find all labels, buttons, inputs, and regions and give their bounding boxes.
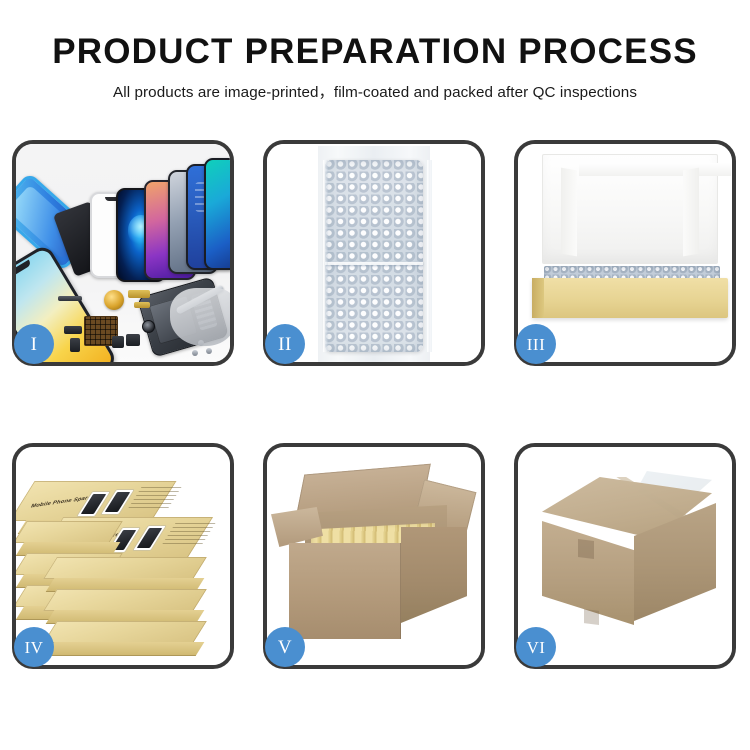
header: PRODUCT PREPARATION PROCESS All products… [0,0,750,102]
retail-box-fifth [50,621,200,643]
lid-flap-left [561,168,577,257]
small-component-icon [70,338,80,352]
hand-icon [170,288,230,346]
step-badge-5: V [265,627,305,667]
inner-box-lid-icon [542,154,718,264]
ic-chip-icon [112,336,124,348]
bubble-wrap-pouch-icon [325,160,423,352]
bar-part-icon [58,296,82,301]
lid-lip [579,163,731,176]
step-panel-5: V [263,443,485,669]
carton-side-right [401,527,467,623]
retail-box-left-a [20,521,116,543]
step-panel-3: III [514,140,736,366]
carton-handle-notch [584,609,599,625]
step-badge-4: IV [14,627,54,667]
page-title: PRODUCT PREPARATION PROCESS [0,34,750,71]
step-badge-1: I [14,324,54,364]
teal-wave-phone-icon [204,158,230,270]
step-badge-6: VI [516,627,556,667]
inner-box-base-icon [532,278,728,318]
step-badge-3: III [516,324,556,364]
product-preparation-page: PRODUCT PREPARATION PROCESS All products… [0,0,750,750]
flex-cable-icon [128,290,150,298]
page-subtitle: All products are image-printed，film-coat… [0,80,750,102]
inner-box-base-side [532,278,544,318]
flex-cable-small-icon [134,302,150,308]
carton-left-face [542,521,634,625]
coil-part-icon [104,290,124,310]
step-panel-2: II [263,140,485,366]
speaker-part-icon [126,334,140,346]
step-panel-1: I [12,140,234,366]
connector-part-icon [64,326,82,334]
step-panel-4: Mobile Phone Spare Parts Mobile Phone Sp… [12,443,234,669]
wrap-edge-left [323,160,328,352]
screw-icon [206,348,212,354]
step-panel-6: VI [514,443,736,669]
screw-icon [192,350,198,356]
retail-box-fourth [50,589,200,611]
wrap-edge-right [427,160,432,352]
lid-flap-right [683,168,699,257]
retail-box-third [50,557,200,579]
retail-box-top: Mobile Phone Spare Parts [22,481,164,521]
wrap-seam [325,262,423,265]
process-steps-grid: I II [12,140,738,669]
step-badge-2: II [265,324,305,364]
carton-handle-notch [578,539,594,559]
camera-module-icon [142,320,155,333]
carton-front-face [289,543,401,639]
